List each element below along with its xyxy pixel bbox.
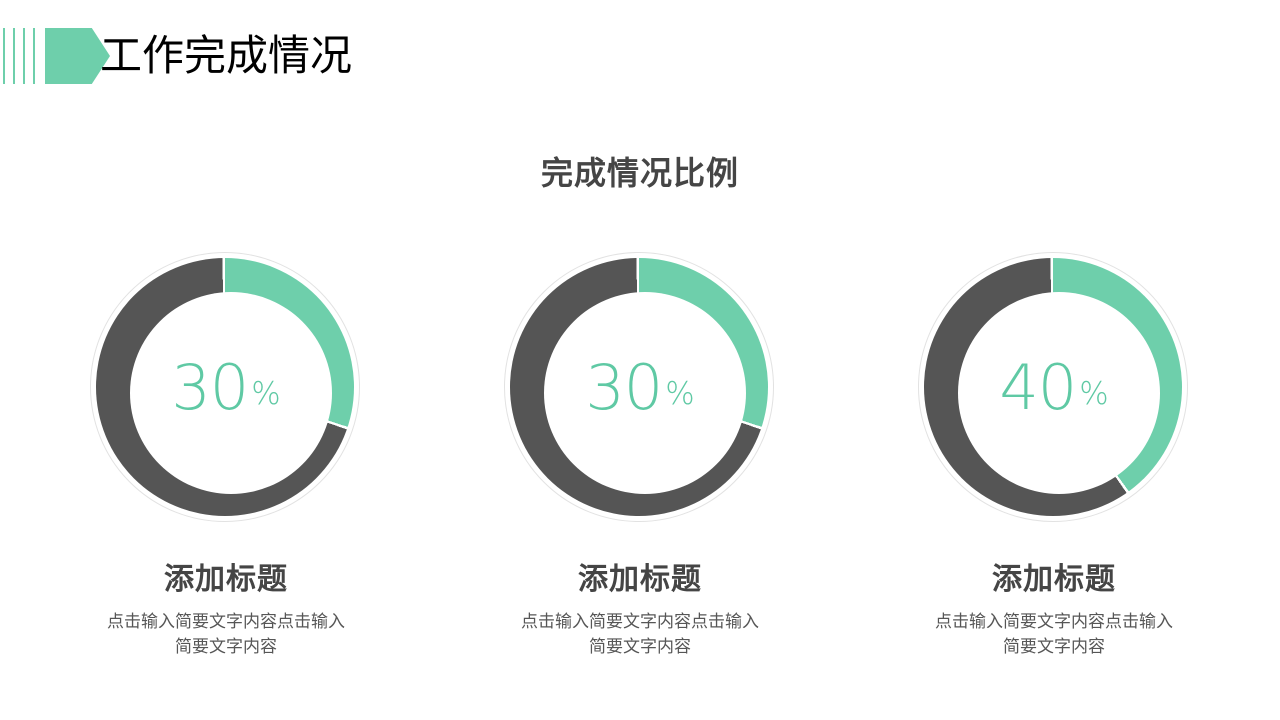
decoration-lines <box>3 28 43 84</box>
decoration-line-4 <box>33 28 35 84</box>
donut-description-3: 点击输入简要文字内容点击输入简要文字内容 <box>930 610 1178 659</box>
donut-chart-2: 30 % <box>504 252 776 524</box>
decoration-line-2 <box>13 28 15 84</box>
donut-description-2: 点击输入简要文字内容点击输入简要文字内容 <box>516 610 764 659</box>
donut-title-2: 添加标题 <box>578 554 702 598</box>
section-subtitle: 完成情况比例 <box>0 148 1280 194</box>
donut-title-1: 添加标题 <box>164 554 288 598</box>
donut-chart-3: 40 % <box>918 252 1190 524</box>
donut-chart-card-2: 30 % 添加标题 点击输入简要文字内容点击输入简要文字内容 <box>490 252 790 659</box>
donut-description-1: 点击输入简要文字内容点击输入简要文字内容 <box>102 610 350 659</box>
decoration-line-3 <box>23 28 25 84</box>
donut-chart-card-1: 30 % 添加标题 点击输入简要文字内容点击输入简要文字内容 <box>76 252 376 659</box>
donut-charts-row: 30 % 添加标题 点击输入简要文字内容点击输入简要文字内容 30 % 添加标题… <box>0 252 1280 659</box>
donut-center-label-2: 30 % <box>504 252 776 524</box>
donut-value-1: 30 <box>171 357 248 419</box>
donut-value-2: 30 <box>585 357 662 419</box>
donut-center-label-3: 40 % <box>918 252 1190 524</box>
page-title: 工作完成情况 <box>100 26 352 86</box>
donut-chart-card-3: 40 % 添加标题 点击输入简要文字内容点击输入简要文字内容 <box>904 252 1204 659</box>
donut-percent-sign-3: % <box>1079 379 1108 410</box>
donut-title-3: 添加标题 <box>992 554 1116 598</box>
slide-header: 工作完成情况 <box>0 28 1280 90</box>
donut-percent-sign-2: % <box>665 379 694 410</box>
decoration-line-1 <box>3 28 5 84</box>
header-decoration <box>0 28 110 84</box>
donut-percent-sign-1: % <box>251 379 280 410</box>
donut-value-3: 40 <box>999 357 1076 419</box>
donut-center-label-1: 30 % <box>90 252 362 524</box>
donut-chart-1: 30 % <box>90 252 362 524</box>
